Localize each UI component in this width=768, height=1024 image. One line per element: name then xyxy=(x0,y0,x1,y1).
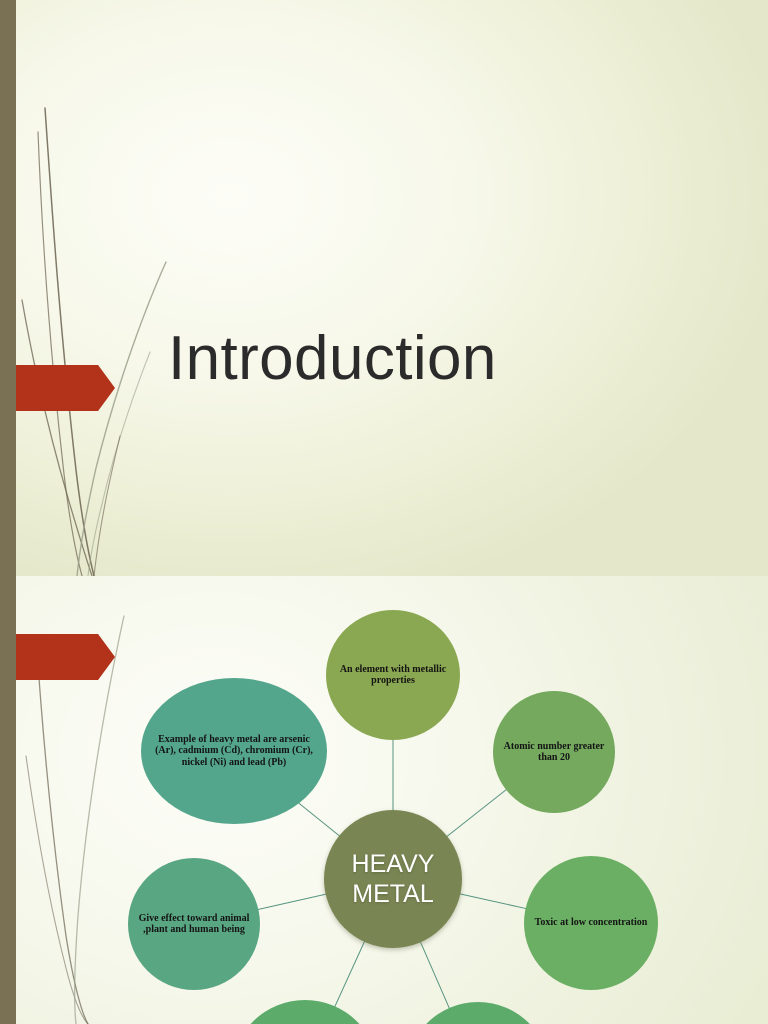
diagram-node-label: Give effect toward animal ,plant and hum… xyxy=(128,913,260,936)
diagram-node-label: Example of heavy metal are arsenic (Ar),… xyxy=(141,734,327,768)
diagram-node-atomic-number[interactable]: Atomic number greater than 20 xyxy=(493,691,615,813)
diagram-hub-label: HEAVY METAL xyxy=(346,849,441,909)
page-title: Introduction xyxy=(168,328,497,390)
heavy-metal-diagram: An element with metallic propertiesAtomi… xyxy=(0,576,768,1024)
diagram-node-toxic-low-concentration[interactable]: Toxic at low concentration xyxy=(524,856,658,990)
diagram-node-label: An element with metallic properties xyxy=(326,664,460,687)
left-edge-bar xyxy=(0,0,16,1024)
diagram-node-heavy-metal-examples[interactable]: Example of heavy metal are arsenic (Ar),… xyxy=(141,678,327,824)
diagram-node-effect-on-organisms[interactable]: Give effect toward animal ,plant and hum… xyxy=(128,858,260,990)
accent-arrow-banner-top xyxy=(0,365,115,411)
diagram-node-label: Toxic at low concentration xyxy=(529,917,654,928)
diagram-node-metallic-properties[interactable]: An element with metallic properties xyxy=(326,610,460,740)
diagram-hub-heavy-metal[interactable]: HEAVY METAL xyxy=(324,810,462,948)
grass-decoration xyxy=(0,0,768,576)
accent-arrow-banner-bottom xyxy=(0,634,115,680)
presentation-deck: Introduction An element with metallic pr… xyxy=(0,0,768,1024)
slide-diagram: An element with metallic propertiesAtomi… xyxy=(0,576,768,1024)
slide-title: Introduction xyxy=(0,0,768,576)
diagram-node-label: Atomic number greater than 20 xyxy=(493,741,615,764)
